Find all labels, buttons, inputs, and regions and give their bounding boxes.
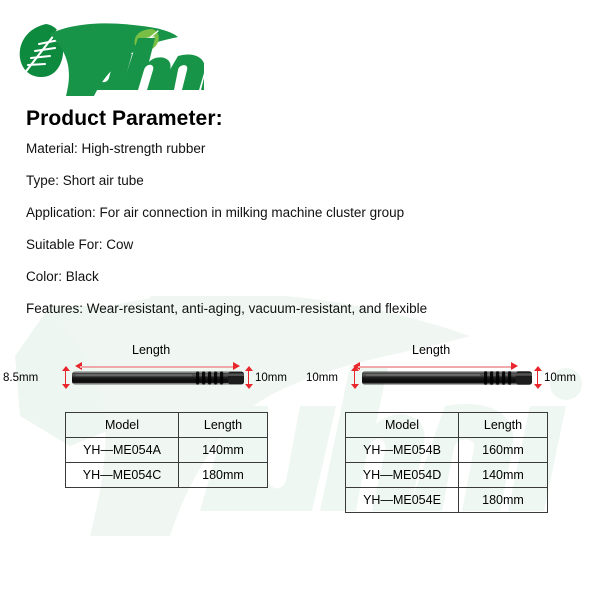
spec-line-color: Color: Black [26, 270, 427, 284]
arrow-bar [354, 370, 356, 385]
length-label-right: Length [412, 343, 450, 357]
spec-line-features: Features: Wear-resistant, anti-aging, va… [26, 302, 427, 316]
cell-model: YH—ME054D [346, 463, 459, 488]
arrow-bar [358, 366, 513, 368]
dimension-label-right: 10mm [544, 372, 576, 384]
header-model: Model [66, 413, 179, 438]
cell-length: 180mm [179, 463, 268, 488]
spec-line-material: Material: High-strength rubber [26, 142, 427, 156]
spec-line-type: Type: Short air tube [26, 174, 427, 188]
dimension-arrow-right [244, 366, 253, 389]
model-table-left: Model Length YH—ME054A 140mm YH—ME054C 1… [65, 412, 268, 488]
cell-model: YH—ME054B [346, 438, 459, 463]
product-parameter-page: Product Parameter: Material: High-streng… [0, 0, 600, 600]
air-tube-illustration-left [72, 369, 244, 387]
header-model: Model [346, 413, 459, 438]
length-label-left: Length [132, 343, 170, 357]
page-title: Product Parameter: [26, 107, 427, 130]
table-row: YH—ME054E 180mm [346, 488, 548, 513]
arrow-tip-bottom-icon [351, 384, 359, 389]
cell-length: 140mm [179, 438, 268, 463]
table-header-row: Model Length [66, 413, 268, 438]
table-row: YH—ME054D 140mm [346, 463, 548, 488]
brand-logo [14, 18, 204, 98]
dimension-arrow-right [533, 366, 542, 389]
dimension-arrow-left [350, 366, 359, 389]
dimension-label-right: 10mm [255, 372, 287, 384]
arrow-bar [65, 370, 67, 385]
table-row: YH—ME054C 180mm [66, 463, 268, 488]
dimension-label-left: 10mm [306, 372, 338, 384]
product-diagram-left: Length 8.5mm [0, 336, 290, 398]
table-header-row: Model Length [346, 413, 548, 438]
header-length: Length [459, 413, 548, 438]
spec-line-suitable-for: Suitable For: Cow [26, 238, 427, 252]
cell-model: YH—ME054E [346, 488, 459, 513]
arrow-tip-bottom-icon [534, 384, 542, 389]
cell-length: 180mm [459, 488, 548, 513]
cell-length: 160mm [459, 438, 548, 463]
spec-line-application: Application: For air connection in milki… [26, 206, 427, 220]
product-spec-block: Product Parameter: Material: High-streng… [26, 107, 427, 316]
dimension-arrow-left [61, 366, 70, 389]
arrow-tip-bottom-icon [62, 384, 70, 389]
air-tube-illustration-right [362, 369, 532, 387]
cell-length: 140mm [459, 463, 548, 488]
arrow-bar [537, 370, 539, 385]
arrow-tip-bottom-icon [245, 384, 253, 389]
arrow-bar [248, 370, 250, 385]
dimension-label-left: 8.5mm [3, 372, 38, 384]
product-diagram-right: Length 10mm [300, 336, 600, 398]
model-table-right: Model Length YH—ME054B 160mm YH—ME054D 1… [345, 412, 548, 513]
cell-model: YH—ME054C [66, 463, 179, 488]
header-length: Length [179, 413, 268, 438]
arrow-bar [80, 366, 235, 368]
table-row: YH—ME054B 160mm [346, 438, 548, 463]
table-row: YH—ME054A 140mm [66, 438, 268, 463]
cell-model: YH—ME054A [66, 438, 179, 463]
